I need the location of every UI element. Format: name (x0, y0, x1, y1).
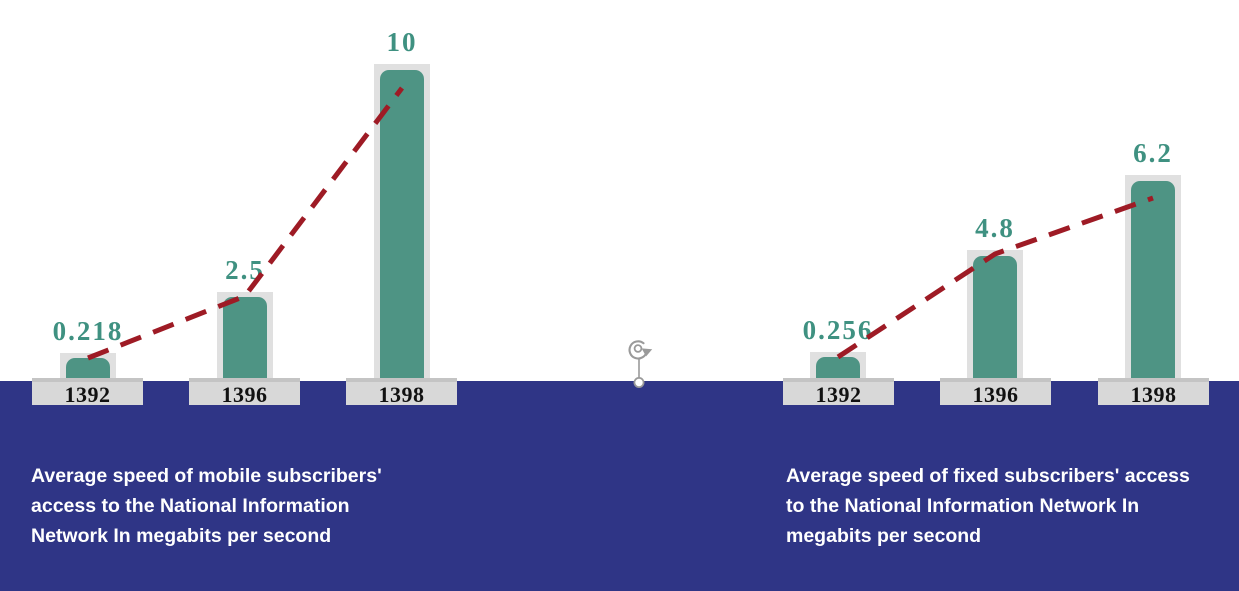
year-label-fixed-1396: 1396 (940, 385, 1051, 405)
caption-mobile-line-3: Network In megabits per second (31, 521, 461, 551)
caption-fixed-line-2: to the National Information Network In (786, 491, 1231, 521)
pedestal-fixed-1398[interactable]: 1398 (1098, 378, 1209, 405)
pedestal-fixed-1396[interactable]: 1396 (940, 378, 1051, 405)
caption-fixed-line-1: Average speed of fixed subscribers' acce… (786, 461, 1231, 491)
year-label-mobile-1396: 1396 (189, 385, 300, 405)
bar-value-fixed-1398: 6.2 (1097, 140, 1209, 167)
pedestal-mobile-1392[interactable]: 1392 (32, 378, 143, 405)
chart-panel-fixed: 0.256 4.8 6.2 (760, 0, 1239, 381)
pedestal-mobile-1396[interactable]: 1396 (189, 378, 300, 405)
bar-mobile-1396[interactable] (223, 297, 267, 381)
bar-value-mobile-1396: 2.5 (189, 257, 301, 284)
pedestal-fixed-1392[interactable]: 1392 (783, 378, 894, 405)
rotate-handle-icon[interactable] (622, 336, 656, 388)
caption-mobile-line-1: Average speed of mobile subscribers' (31, 461, 461, 491)
caption-mobile-line-2: access to the National Information (31, 491, 461, 521)
chart-panel-mobile: 0.218 2.5 10 (0, 0, 620, 381)
year-label-mobile-1392: 1392 (32, 385, 143, 405)
bar-fixed-1396[interactable] (973, 256, 1017, 381)
caption-fixed: Average speed of fixed subscribers' acce… (786, 461, 1231, 551)
year-label-fixed-1392: 1392 (783, 385, 894, 405)
year-label-fixed-1398: 1398 (1098, 385, 1209, 405)
bar-value-fixed-1396: 4.8 (939, 215, 1051, 242)
bar-value-mobile-1392: 0.218 (32, 318, 144, 345)
caption-mobile: Average speed of mobile subscribers' acc… (31, 461, 461, 551)
caption-fixed-line-3: megabits per second (786, 521, 1231, 551)
pedestal-mobile-1398[interactable]: 1398 (346, 378, 457, 405)
bar-mobile-1398[interactable] (380, 70, 424, 381)
bar-fixed-1398[interactable] (1131, 181, 1175, 381)
infographic-canvas: 0.218 2.5 10 1392 1396 1398 0.256 (0, 0, 1239, 591)
year-label-mobile-1398: 1398 (346, 385, 457, 405)
bar-value-fixed-1392: 0.256 (780, 317, 896, 344)
bar-value-mobile-1398: 10 (346, 29, 458, 56)
